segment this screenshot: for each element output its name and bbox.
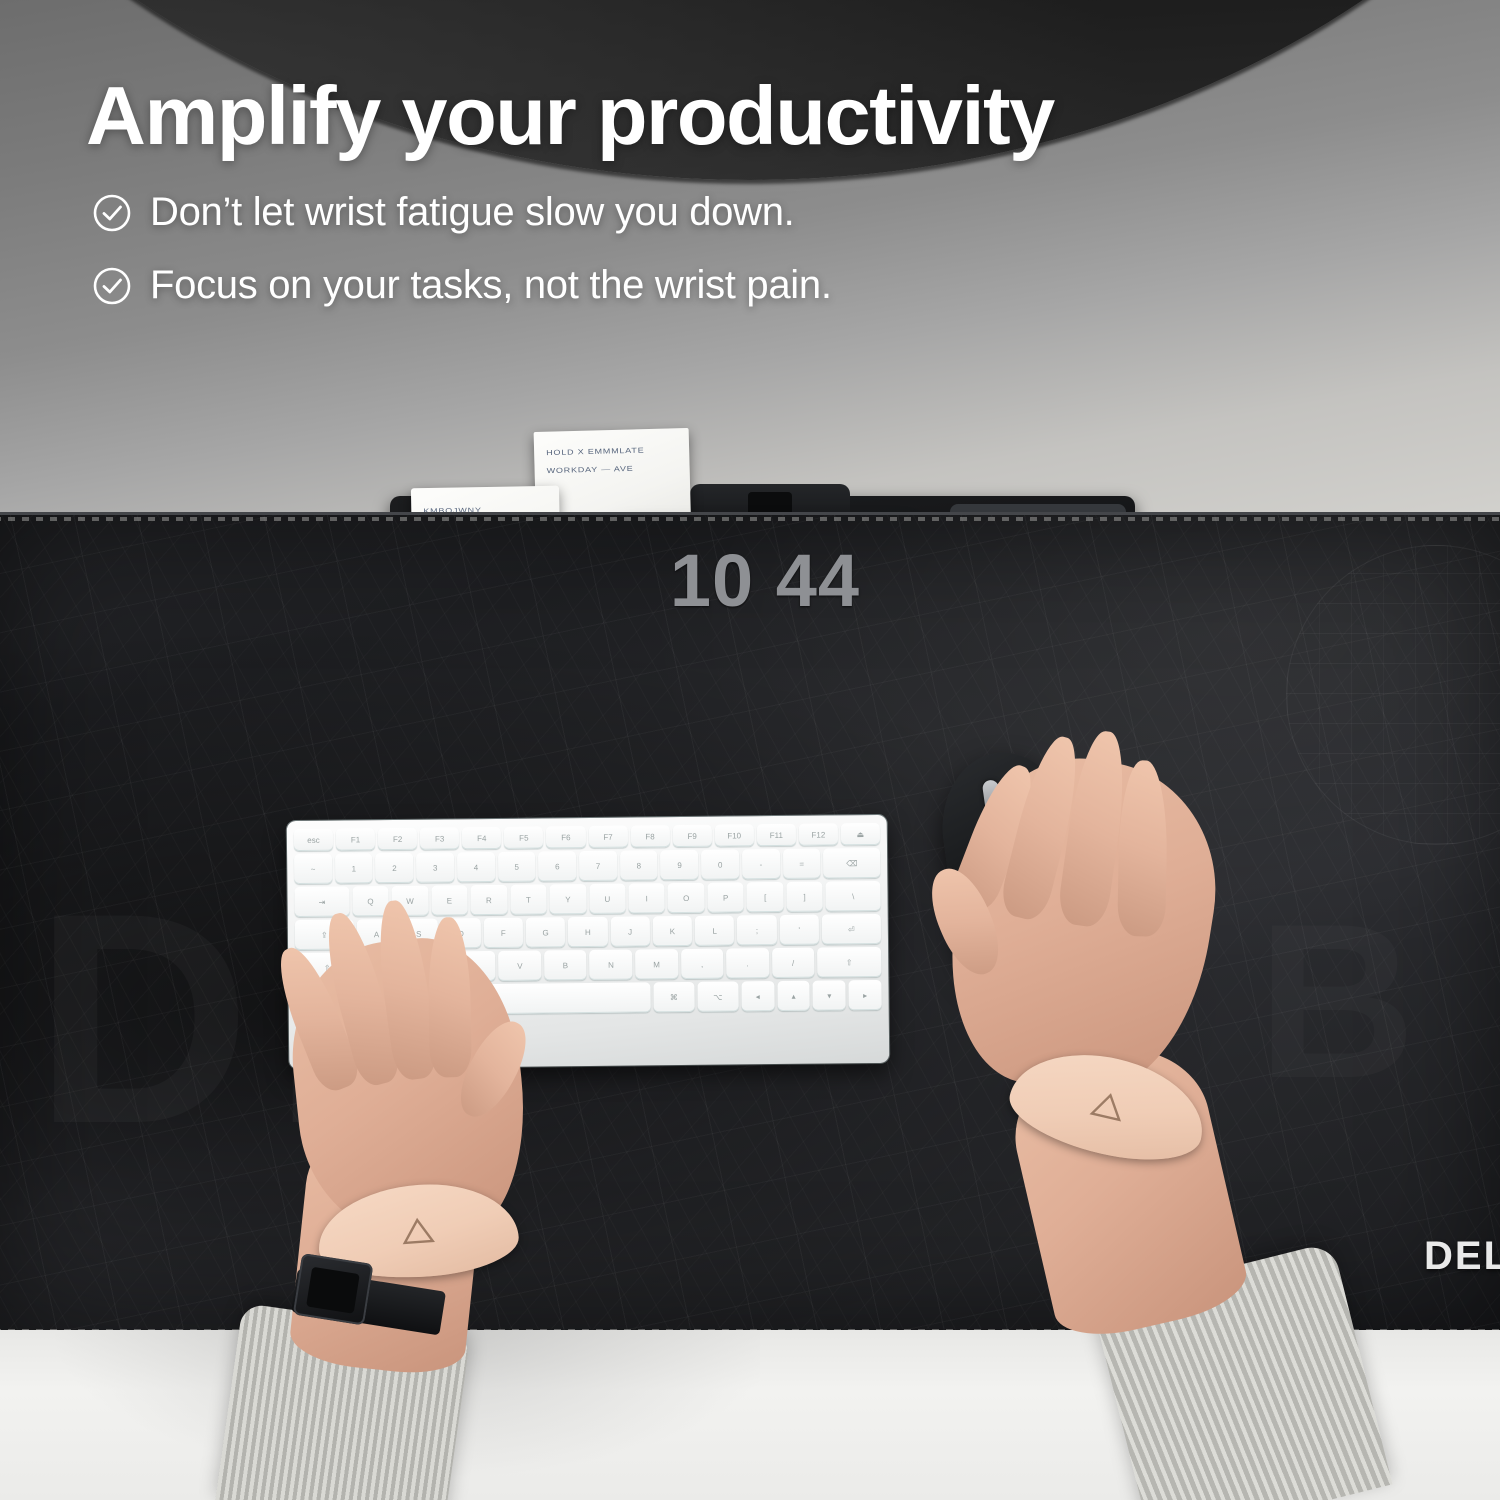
mat-watermark: B <box>1257 875 1416 1128</box>
key-1[interactable]: 1 <box>335 853 373 883</box>
note-line: HOLD X EMMMLATE <box>546 446 645 457</box>
key-[interactable]: ⏎ <box>822 914 881 945</box>
key-[interactable]: = <box>783 849 821 879</box>
key-[interactable]: ▸ <box>849 980 882 1010</box>
key-[interactable]: ⏏ <box>841 823 880 845</box>
benefit-item: Don’t let wrist fatigue slow you down. <box>92 190 832 235</box>
key-o[interactable]: O <box>668 883 705 913</box>
benefit-list: Don’t let wrist fatigue slow you down.Fo… <box>92 190 832 336</box>
key-[interactable]: ⌥ <box>697 981 738 1011</box>
key-7[interactable]: 7 <box>579 851 617 881</box>
key-0[interactable]: 0 <box>701 849 739 879</box>
key-esc[interactable]: esc <box>294 829 333 851</box>
key-f12[interactable]: F12 <box>799 823 838 845</box>
clock-time: 10 44 <box>670 548 860 615</box>
keyboard-row: ⇥QWERTYUIOP[]\ <box>294 881 880 917</box>
key-f4[interactable]: F4 <box>462 827 501 849</box>
key-8[interactable]: 8 <box>620 850 658 880</box>
watch-face <box>306 1267 360 1314</box>
key-t[interactable]: T <box>510 884 547 914</box>
key-k[interactable]: K <box>653 916 693 946</box>
page-title: Amplify your productivity <box>86 74 1054 157</box>
key-5[interactable]: 5 <box>498 852 536 882</box>
keyboard-row: ~1234567890-=⌫ <box>294 848 880 884</box>
key-f7[interactable]: F7 <box>588 826 627 848</box>
key-f11[interactable]: F11 <box>757 824 796 846</box>
key-[interactable]: ▾ <box>813 980 846 1010</box>
key-3[interactable]: 3 <box>416 852 454 882</box>
key-4[interactable]: 4 <box>457 852 495 882</box>
key-r[interactable]: R <box>471 885 508 915</box>
key-f8[interactable]: F8 <box>630 825 669 847</box>
watch-case <box>293 1253 374 1325</box>
key-2[interactable]: 2 <box>375 853 413 883</box>
key-[interactable]: ◂ <box>741 981 774 1011</box>
scene-root: HOLD X EMMMLATE WORKDAY — AVE 10 44 KMBO… <box>0 0 1500 1500</box>
key-n[interactable]: N <box>590 950 633 980</box>
key-6[interactable]: 6 <box>538 851 576 881</box>
key-b[interactable]: B <box>544 950 587 980</box>
key-l[interactable]: L <box>695 915 735 945</box>
key-f3[interactable]: F3 <box>420 827 459 849</box>
key-f6[interactable]: F6 <box>546 826 585 848</box>
key-[interactable]: , <box>681 949 724 979</box>
benefit-text: Don’t let wrist fatigue slow you down. <box>150 190 794 235</box>
key-f[interactable]: F <box>484 918 524 948</box>
key-i[interactable]: I <box>628 883 665 913</box>
key-g[interactable]: G <box>526 917 566 947</box>
keyboard-row: escF1F2F3F4F5F6F7F8F9F10F11F12⏏ <box>294 823 880 851</box>
check-circle-icon <box>92 193 132 233</box>
finger <box>1117 760 1168 937</box>
key-[interactable]: ⌘ <box>653 982 694 1012</box>
key-[interactable]: ▴ <box>777 981 810 1011</box>
key-f1[interactable]: F1 <box>336 828 375 850</box>
key-[interactable]: ⇧ <box>817 947 881 978</box>
key-e[interactable]: E <box>431 885 468 915</box>
key-[interactable]: ⌫ <box>823 848 880 879</box>
key-m[interactable]: M <box>635 949 678 979</box>
benefit-text: Focus on your tasks, not the wrist pain. <box>150 263 832 308</box>
key-[interactable]: ] <box>786 882 823 912</box>
delta-triangle-icon <box>1088 1088 1128 1125</box>
key-v[interactable]: V <box>498 950 541 980</box>
key-[interactable]: . <box>726 948 769 978</box>
key-[interactable]: / <box>772 948 815 978</box>
key-u[interactable]: U <box>589 884 626 914</box>
key-f10[interactable]: F10 <box>715 824 754 846</box>
key-[interactable]: - <box>742 849 780 879</box>
key-[interactable]: ~ <box>294 854 332 884</box>
key-[interactable]: [ <box>747 882 784 912</box>
key-9[interactable]: 9 <box>661 850 699 880</box>
key-[interactable]: ; <box>737 915 777 945</box>
key-f9[interactable]: F9 <box>672 825 711 847</box>
key-y[interactable]: Y <box>549 884 586 914</box>
note-line: WORKDAY — AVE <box>547 464 634 474</box>
key-p[interactable]: P <box>707 882 744 912</box>
mat-brand-label: DEL <box>1424 1234 1500 1279</box>
check-circle-icon <box>92 266 132 306</box>
delta-triangle-icon <box>400 1215 436 1247</box>
key-f5[interactable]: F5 <box>504 826 543 848</box>
key-h[interactable]: H <box>568 917 608 947</box>
key-j[interactable]: J <box>610 916 650 946</box>
benefit-item: Focus on your tasks, not the wrist pain. <box>92 263 832 308</box>
key-[interactable]: \ <box>826 881 881 912</box>
key-f2[interactable]: F2 <box>378 828 417 850</box>
key-[interactable]: ' <box>779 915 819 945</box>
